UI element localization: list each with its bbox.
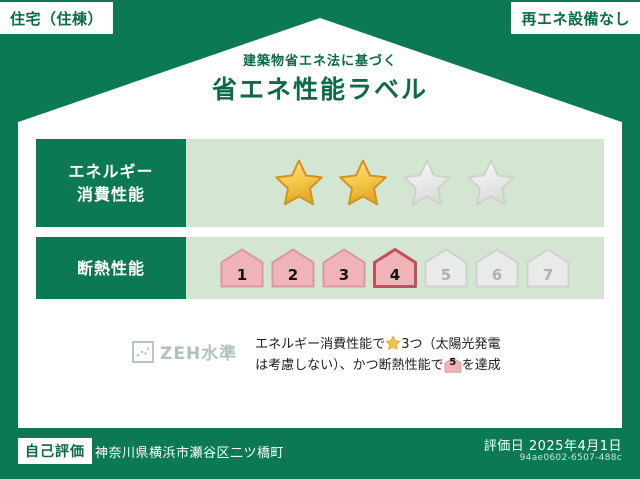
title-main: 省エネ性能ラベル [0, 74, 640, 106]
insulation-level-selected: 4 [372, 247, 418, 289]
title-subtitle: 建築物省エネ法に基づく [0, 54, 640, 70]
inline-star-icon [385, 335, 401, 351]
label-identifier: 94ae0602-6507-488c [520, 453, 622, 463]
star-rating [272, 157, 518, 209]
energy-performance-row: エネルギー 消費性能 [36, 139, 604, 227]
star-empty [400, 157, 454, 209]
insulation-level-active: 3 [321, 247, 367, 289]
inline-house-level: 5 [444, 352, 462, 373]
zeh-standard-label: ZEH水準 [160, 339, 237, 364]
energy-performance-value [186, 139, 604, 227]
insulation-level-inactive: 6 [474, 247, 520, 289]
insulation-level-number: 6 [474, 266, 520, 284]
insulation-performance-label: 断熱性能 [36, 237, 186, 299]
insulation-level-number: 4 [372, 266, 418, 284]
insulation-level-number: 2 [270, 266, 316, 284]
insulation-performance-row: 断熱性能 1234567 [36, 237, 604, 299]
label-footer: 自己評価 神奈川県横浜市瀬谷区二ツ橋町 評価日 2025年4月1日 94ae06… [0, 428, 640, 479]
note-text-part2: は考慮しない）、かつ断熱性能で [255, 358, 444, 373]
energy-performance-label: エネルギー 消費性能 [36, 139, 186, 227]
insulation-level-inactive: 5 [423, 247, 469, 289]
zeh-note-area: ZEH水準 エネルギー消費性能で 3つ（太陽光発電 は考慮しない）、かつ断熱性能… [36, 330, 604, 394]
zeh-chart-icon [132, 341, 154, 363]
property-address: 神奈川県横浜市瀬谷区二ツ橋町 [95, 442, 284, 461]
note-text-part3: を達成 [462, 358, 501, 373]
insulation-level-active: 2 [270, 247, 316, 289]
energy-label-line1: エネルギー [68, 160, 153, 183]
star-empty [464, 157, 518, 209]
note-text-part1: エネルギー消費性能で [255, 337, 385, 352]
evaluation-date: 評価日 2025年4月1日 [484, 435, 622, 454]
building-type-tag: 住宅（住棟） [0, 2, 113, 34]
insulation-level-number: 3 [321, 266, 367, 284]
insulation-level-active: 1 [219, 247, 265, 289]
insulation-performance-value: 1234567 [186, 237, 604, 299]
star-filled [272, 157, 326, 209]
self-evaluation-badge: 自己評価 [18, 438, 92, 464]
insulation-label-line1: 断熱性能 [77, 257, 145, 280]
inline-house-icon: 5 [444, 357, 462, 373]
star-filled [336, 157, 390, 209]
energy-performance-label: 住宅（住棟） 再エネ設備なし 建築物省エネ法に基づく 省エネ性能ラベル エネルギ… [0, 0, 640, 479]
title-block: 建築物省エネ法に基づく 省エネ性能ラベル [0, 54, 640, 106]
insulation-level-inactive: 7 [525, 247, 571, 289]
zeh-criteria-text: エネルギー消費性能で 3つ（太陽光発電 は考慮しない）、かつ断熱性能で 5 を達… [255, 334, 501, 376]
insulation-level-number: 1 [219, 266, 265, 284]
zeh-standard-badge: ZEH水準 [132, 339, 237, 364]
renewable-energy-tag: 再エネ設備なし [511, 2, 640, 34]
insulation-level-scale: 1234567 [219, 247, 571, 289]
insulation-level-number: 7 [525, 266, 571, 284]
insulation-level-number: 5 [423, 266, 469, 284]
note-star-count: 3つ（太陽光発電 [401, 337, 500, 352]
energy-label-line2: 消費性能 [77, 183, 145, 206]
